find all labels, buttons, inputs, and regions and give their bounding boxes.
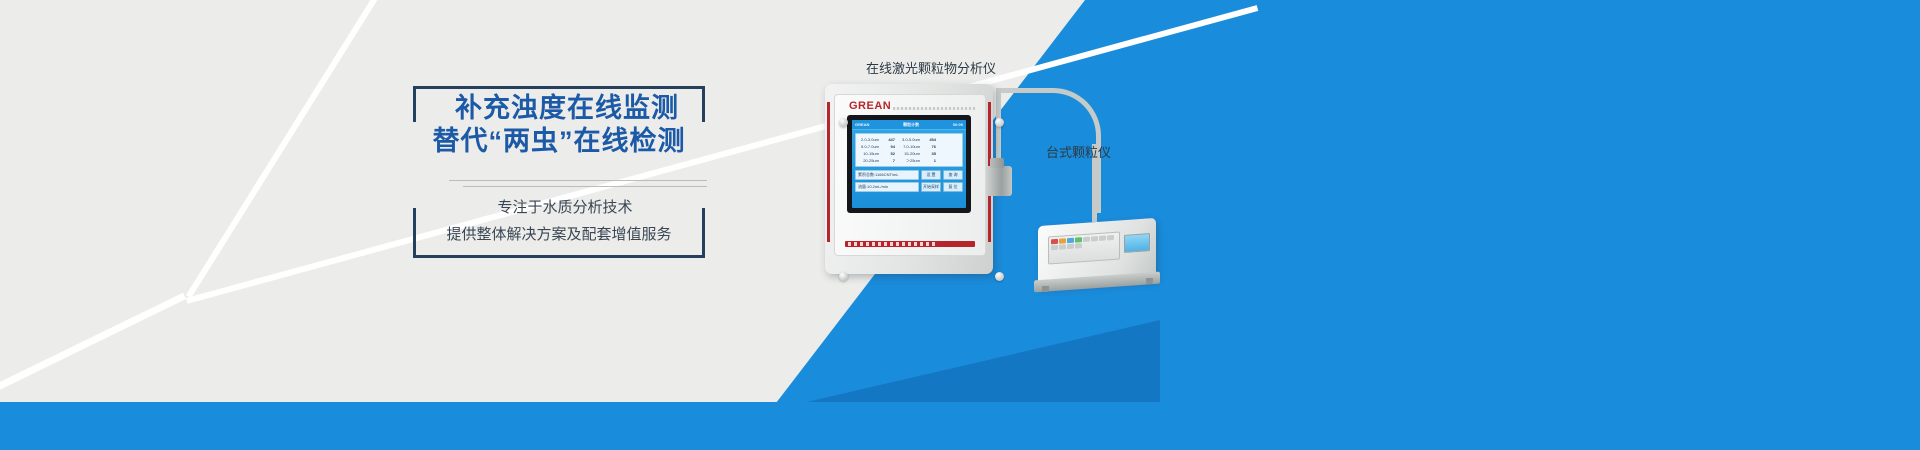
range-a: 2.0-3.0um: [857, 136, 881, 143]
start-sampling-button[interactable]: 开始采样: [921, 182, 941, 192]
divider-group: [435, 180, 693, 187]
blue-bottom-bar: [0, 402, 1920, 450]
value-b: 76: [922, 143, 939, 150]
callout-online-laser-particle-analyzer: 在线激光颗粒物分析仪: [866, 58, 996, 77]
keypad-key[interactable]: [1099, 235, 1106, 240]
range-b: 7.0-10um: [898, 143, 922, 150]
table-row: 20-25um 7 ＞25um 1: [857, 157, 961, 164]
lcd-status-bar: GREAN 颗粒计数 00:00: [852, 120, 966, 130]
brand-logo: GREAN: [849, 100, 891, 112]
table-row: 2.0-3.0um 447 3.0-5.0um 454: [857, 136, 961, 143]
value-b: 454: [922, 136, 939, 143]
keypad-key[interactable]: [1059, 238, 1066, 243]
brand-decor-rule: [893, 107, 975, 110]
analyzer-front-panel: GREAN GREAN 颗粒计数 00:00 2.0-3.0um 447: [834, 94, 986, 256]
value-a: 7: [881, 157, 898, 164]
lcd-brand: GREAN: [855, 122, 869, 127]
keypad-key[interactable]: [1075, 243, 1082, 248]
frame-bottom-border: [413, 255, 705, 258]
wall-mount-analyzer: GREAN GREAN 颗粒计数 00:00 2.0-3.0um 447: [825, 84, 993, 274]
lcd-title: 颗粒计数: [903, 122, 919, 128]
product-photo: GREAN GREAN 颗粒计数 00:00 2.0-3.0um 447: [800, 58, 1190, 338]
total-count-field: 累积总数:1166CNT/mL: [855, 170, 919, 180]
range-a: 5.0-7.0um: [857, 143, 881, 150]
range-b: 3.0-5.0um: [898, 136, 922, 143]
cable-gland-connector: [986, 166, 1012, 196]
value-b: 35: [922, 150, 939, 157]
value-a: 94: [881, 143, 898, 150]
lcd-control-area: 累积总数:1166CNT/mL 设 置 查 询 流量:10.2mL/min 开始…: [855, 170, 963, 192]
keypad-key[interactable]: [1067, 244, 1074, 249]
frame-top-border: [413, 86, 705, 89]
flow-rate-field: 流量:10.2mL/min: [855, 182, 919, 192]
value-a: 52: [881, 150, 898, 157]
analyzer-red-edge-left: [827, 102, 830, 242]
analyzer-lcd[interactable]: GREAN 颗粒计数 00:00 2.0-3.0um 447 3.0-5.0um…: [852, 120, 966, 208]
benchtop-foot: [1146, 278, 1153, 284]
benchtop-foot: [1042, 286, 1049, 292]
keypad-key[interactable]: [1091, 236, 1098, 241]
corner-screw-icon: [839, 118, 848, 127]
lcd-control-row: 流量:10.2mL/min 开始采样 复 位: [855, 182, 963, 192]
range-a: 10-15um: [857, 150, 881, 157]
reset-button[interactable]: 复 位: [943, 182, 963, 192]
range-b: ＞25um: [898, 157, 922, 164]
value-a: 447: [881, 136, 898, 143]
headline-block: 补充浊度在线监测 替代“两虫”在线检测 专注于水质分析技术 提供整体解决方案及配…: [413, 86, 705, 258]
value-b: 1: [922, 157, 939, 164]
corner-screw-icon: [995, 118, 1004, 127]
keypad-key[interactable]: [1067, 238, 1074, 243]
lcd-particle-table: 2.0-3.0um 447 3.0-5.0um 454 5.0-7.0um 94…: [855, 133, 963, 167]
subtitle-line-1: 专注于水质分析技术: [413, 194, 705, 221]
corner-screw-icon: [839, 272, 848, 281]
subtitle-line-2: 提供整体解决方案及配套增值服务: [413, 221, 705, 248]
keypad-key[interactable]: [1075, 237, 1082, 242]
query-button[interactable]: 查 询: [943, 170, 963, 180]
promo-banner: 补充浊度在线监测 替代“两虫”在线检测 专注于水质分析技术 提供整体解决方案及配…: [0, 0, 1920, 450]
divider-line-1: [449, 180, 707, 181]
analyzer-model-label: [845, 241, 975, 247]
analyzer-display-bezel: GREAN 颗粒计数 00:00 2.0-3.0um 447 3.0-5.0um…: [847, 115, 971, 213]
lcd-control-row: 累积总数:1166CNT/mL 设 置 查 询: [855, 170, 963, 180]
keypad-key[interactable]: [1107, 235, 1114, 240]
range-b: 15-20um: [898, 150, 922, 157]
corner-screw-icon: [995, 272, 1004, 281]
headline-line-2: 替代“两虫”在线检测: [413, 125, 705, 158]
callout-benchtop-particle-counter: 台式颗粒仪: [1046, 142, 1111, 161]
headline-line-1: 补充浊度在线监测: [413, 92, 705, 125]
keypad-key[interactable]: [1051, 245, 1058, 250]
benchtop-particle-counter: [1038, 216, 1163, 298]
range-a: 20-25um: [857, 157, 881, 164]
subtitle: 专注于水质分析技术 提供整体解决方案及配套增值服务: [413, 194, 705, 248]
table-row: 10-15um 52 15-20um 35: [857, 150, 961, 157]
headline: 补充浊度在线监测 替代“两虫”在线检测: [413, 92, 705, 158]
keypad-key[interactable]: [1051, 239, 1058, 244]
benchtop-display: [1124, 233, 1150, 253]
settings-button[interactable]: 设 置: [921, 170, 941, 180]
keypad-key[interactable]: [1083, 237, 1090, 242]
table-row: 5.0-7.0um 94 7.0-10um 76: [857, 143, 961, 150]
divider-line-2: [463, 186, 707, 187]
lcd-clock: 00:00: [953, 122, 963, 127]
keypad-key[interactable]: [1059, 244, 1066, 249]
benchtop-keypad[interactable]: [1048, 231, 1120, 264]
